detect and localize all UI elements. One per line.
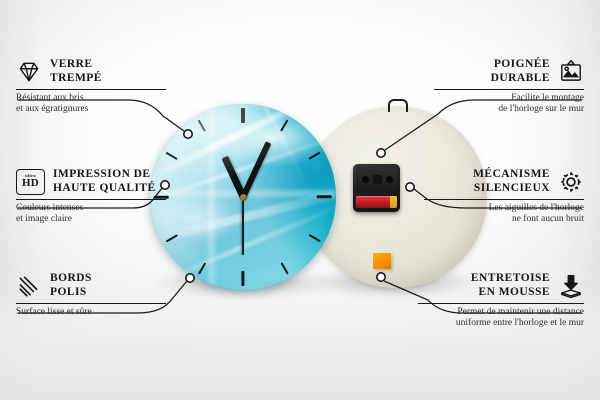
feature-mecanisme-silencieux: MÉCANISME SILENCIEUX Les aiguilles de l'…: [424, 168, 584, 225]
clock-tick: [165, 151, 177, 160]
aa-battery: [356, 196, 397, 208]
feature-description: Surface lisse et sûre: [16, 307, 166, 318]
movement-detail-dot: [386, 176, 393, 183]
feature-description: Facilite le montage de l'horloge sur le …: [434, 93, 584, 115]
clock-tick: [280, 119, 289, 131]
feature-title: IMPRESSION DE HAUTE QUALITÉ: [53, 168, 156, 195]
product-images: [140, 100, 470, 300]
infographic-canvas: VERRE TREMPÉ Résistant aux bris et aux é…: [0, 0, 600, 400]
quartz-movement-box: [353, 164, 400, 212]
gear-icon: [558, 169, 584, 195]
clock-tick: [197, 119, 206, 131]
clock-tick: [197, 262, 206, 274]
feature-title: VERRE TREMPÉ: [50, 58, 102, 85]
feature-header: MÉCANISME SILENCIEUX: [424, 168, 584, 195]
clock-tick: [241, 108, 244, 123]
movement-face-plate: [356, 167, 397, 193]
feature-divider: [16, 303, 166, 304]
second-hand: [242, 195, 244, 255]
feature-title: POIGNÉE DURABLE: [491, 58, 550, 85]
feature-header: POIGNÉE DURABLE: [434, 58, 584, 85]
feature-impression-haute-qualite: ultra HD IMPRESSION DE HAUTE QUALITÉ Cou…: [16, 168, 166, 225]
ultra-hd-icon-large-label: HD: [22, 178, 39, 189]
hand-center-cap: [240, 194, 247, 201]
feature-description: Permet de maintenir une distance uniform…: [418, 307, 584, 329]
feature-divider: [434, 89, 584, 90]
clock-tick: [308, 234, 320, 243]
movement-detail-block: [373, 175, 382, 184]
feature-description: Résistant aux bris et aux égratignures: [16, 93, 166, 115]
feature-divider: [16, 199, 166, 200]
feature-title: MÉCANISME SILENCIEUX: [473, 168, 550, 195]
polished-edges-icon: [16, 273, 42, 299]
clock-tick: [241, 271, 244, 286]
clock-tick: [317, 195, 332, 198]
feature-divider: [418, 303, 584, 304]
battery-positive-cap: [390, 196, 397, 208]
feature-verre-trempe: VERRE TREMPÉ Résistant aux bris et aux é…: [16, 58, 166, 115]
diamond-icon: [16, 59, 42, 85]
clock-tick: [165, 234, 177, 243]
feature-entretoise-en-mousse: ENTRETOISE EN MOUSSE Permet de maintenir…: [418, 272, 584, 329]
feature-header: BORDS POLIS: [16, 272, 166, 299]
ultra-hd-icon: ultra HD: [16, 169, 45, 195]
picture-hanger-icon: [558, 59, 584, 85]
feature-divider: [16, 89, 166, 90]
feature-divider: [424, 199, 584, 200]
wall-clock-front-face: [150, 104, 336, 290]
foam-spacer-block: [373, 253, 391, 269]
feature-header: ENTRETOISE EN MOUSSE: [418, 272, 584, 299]
clock-tick: [308, 151, 320, 160]
feature-bords-polis: BORDS POLIS Surface lisse et sûre: [16, 272, 166, 318]
feature-description: Les aiguilles de l'horloge ne font aucun…: [424, 203, 584, 225]
clock-tick: [280, 262, 289, 274]
feature-header: ultra HD IMPRESSION DE HAUTE QUALITÉ: [16, 168, 166, 195]
feature-header: VERRE TREMPÉ: [16, 58, 166, 85]
feature-description: Couleurs intenses et image claire: [16, 203, 166, 225]
hanger-loop-icon: [388, 99, 408, 112]
feature-title: ENTRETOISE EN MOUSSE: [471, 272, 550, 299]
feature-title: BORDS POLIS: [50, 272, 92, 299]
feature-poignee-durable: POIGNÉE DURABLE Facilite le montage de l…: [434, 58, 584, 115]
movement-detail-dot: [362, 176, 369, 183]
foam-spacer-icon: [558, 273, 584, 299]
